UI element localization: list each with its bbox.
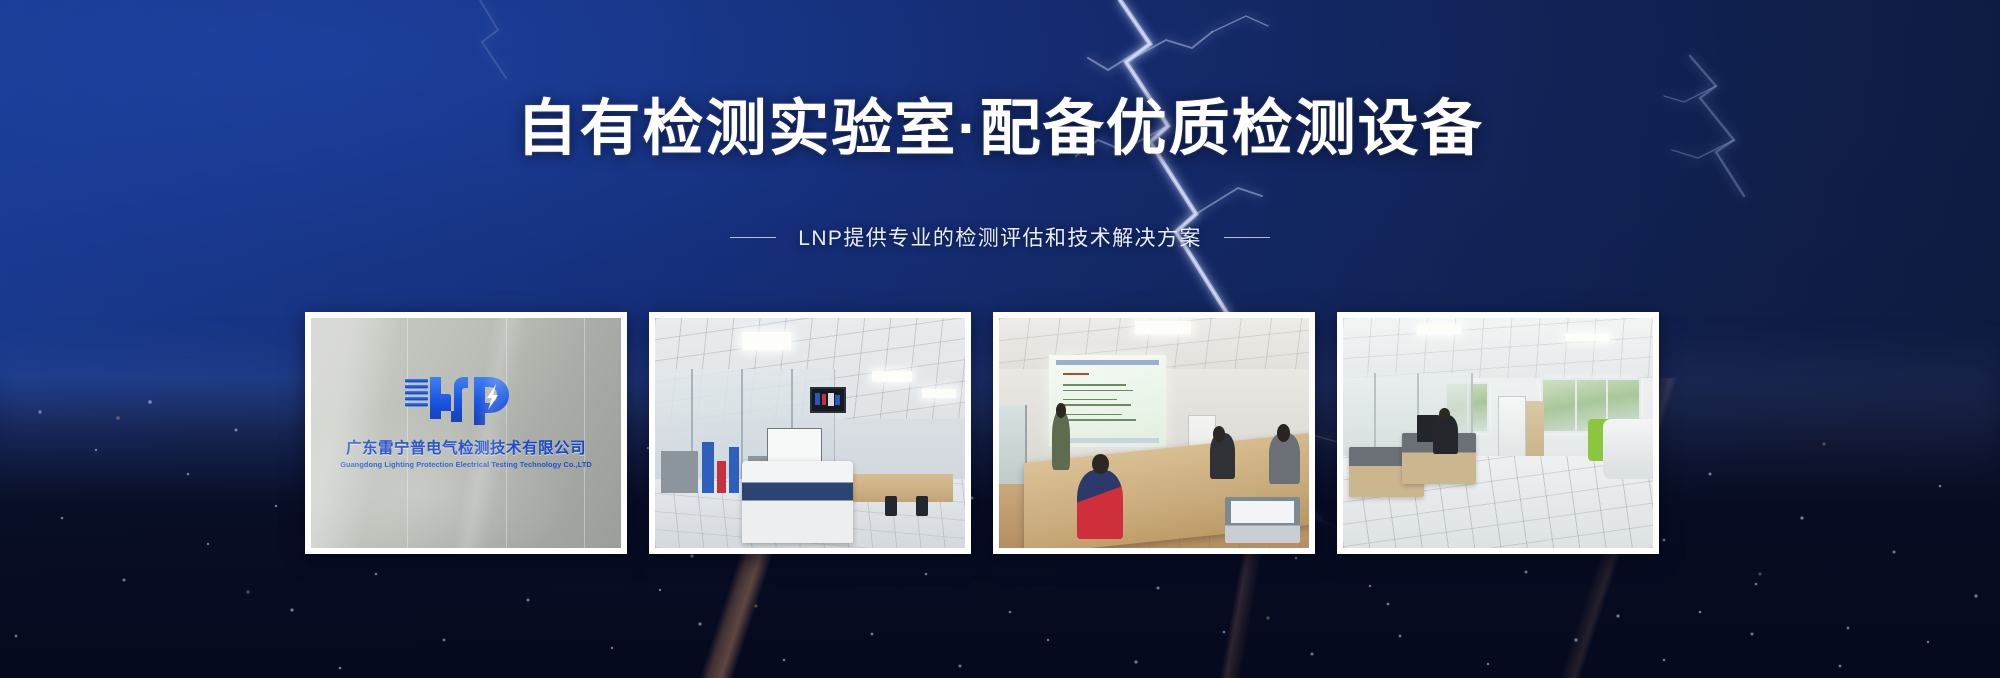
office-area-photo [1343,318,1653,548]
ceiling-light [922,389,956,398]
test-equipment [717,461,726,493]
ceiling-light [1135,321,1191,334]
page-title: 自有检测实验室·配备优质检测设备 [516,96,1483,162]
subtitle-rule-right [1224,237,1270,238]
office-chair [885,496,897,516]
office-chair [916,496,928,516]
glass-door [999,405,1027,488]
laptop [1225,497,1299,543]
gallery-item-office-area[interactable] [1337,312,1659,554]
photo-gallery: 广东雷宁普电气检测技术有限公司 Guangdong Lighting Prote… [305,312,1647,554]
attendee [1077,470,1124,539]
ceiling-light [872,371,912,382]
gallery-item-testing-laboratory[interactable] [649,312,971,554]
office-ceiling [1343,318,1653,378]
headline-block: 自有检测实验室·配备优质检测设备 [0,96,2000,162]
test-equipment [661,451,698,492]
gallery-item-meeting-room[interactable] [993,312,1315,554]
wall-sheen [311,318,621,548]
gallery-item-company-sign[interactable]: 广东雷宁普电气检测技术有限公司 Guangdong Lighting Prote… [305,312,627,554]
company-sign-photo: 广东雷宁普电气检测技术有限公司 Guangdong Lighting Prote… [311,318,621,548]
subtitle-block: LNP提供专业的检测评估和技术解决方案 [0,222,2000,252]
control-console [742,461,854,544]
hero-banner: 自有检测实验室·配备优质检测设备 LNP提供专业的检测评估和技术解决方案 [0,0,2000,678]
test-equipment [729,447,738,493]
test-equipment [702,442,714,493]
subtitle-rule-left [730,237,776,238]
meeting-room-photo [999,318,1309,548]
reception-counter [1603,419,1653,479]
testing-laboratory-photo [655,318,965,548]
page-subtitle: LNP提供专业的检测评估和技术解决方案 [798,222,1201,252]
console-monitor [767,428,823,465]
ceiling-light [1417,324,1460,334]
ceiling-light [742,332,792,350]
workstation-desks [847,474,952,502]
wall-mounted-tv [810,387,846,413]
presenter [1052,410,1071,470]
ceiling-light [1566,334,1609,341]
